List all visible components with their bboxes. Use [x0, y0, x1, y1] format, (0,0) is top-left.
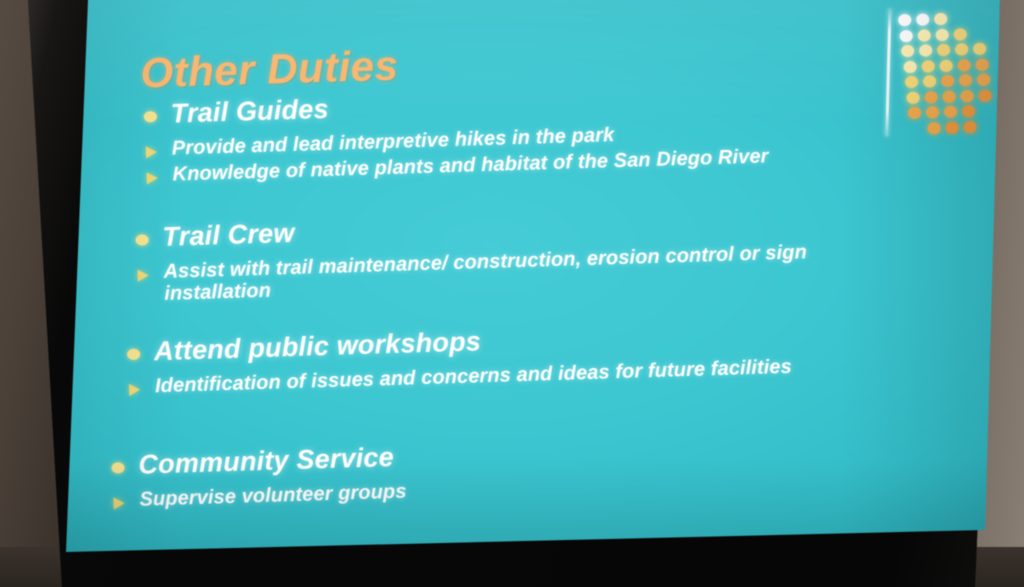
sub-bullet-arrow-icon — [146, 146, 157, 158]
matrix-dot — [939, 59, 952, 71]
sub-bullet-arrow-icon — [147, 172, 158, 184]
matrix-dot — [921, 60, 934, 72]
matrix-dot — [928, 122, 941, 134]
matrix-dot — [901, 45, 914, 57]
matrix-dot — [936, 28, 949, 40]
matrix-dot — [977, 74, 990, 86]
slide-section: Community Service Supervise volunteer gr… — [138, 430, 780, 511]
section-heading-label: Trail Guides — [170, 94, 329, 129]
decorative-dot-matrix — [898, 11, 1012, 144]
matrix-dot — [946, 121, 959, 133]
matrix-dot — [916, 13, 929, 25]
matrix-dot — [934, 13, 947, 25]
bullet-dot-icon — [127, 349, 140, 360]
matrix-dot — [900, 29, 913, 41]
matrix-dot — [898, 14, 911, 26]
matrix-dot — [962, 105, 975, 117]
matrix-dot — [954, 28, 967, 40]
matrix-dot — [919, 44, 932, 56]
section-heading-label: Attend public workshops — [154, 326, 482, 366]
matrix-dot — [918, 29, 931, 41]
sub-bullet-arrow-icon — [129, 384, 140, 396]
matrix-dot — [959, 74, 972, 86]
section-sub-item-label: Assist with trail maintenance/ construct… — [163, 241, 807, 304]
slide-content: Other Duties Trail Guides Provide and le… — [0, 0, 1024, 587]
matrix-dot — [923, 75, 936, 87]
matrix-dot — [924, 91, 937, 103]
bullet-dot-icon — [135, 234, 148, 245]
matrix-dot — [975, 58, 988, 70]
matrix-dot — [906, 91, 919, 103]
matrix-dot — [908, 107, 921, 119]
section-sub-item-label: Supervise volunteer groups — [139, 481, 407, 511]
slide-section: Attend public workshops Identification o… — [154, 315, 866, 398]
sub-bullet-arrow-icon — [113, 497, 124, 509]
section-heading-label: Community Service — [138, 442, 394, 480]
matrix-dot — [905, 76, 918, 88]
matrix-dot — [941, 75, 954, 87]
matrix-dot — [978, 89, 991, 101]
bullet-dot-icon — [111, 462, 124, 473]
section-heading-label: Trail Crew — [162, 218, 295, 252]
matrix-dot — [964, 120, 977, 132]
matrix-dot — [973, 43, 986, 55]
slide-section: Trail Crew Assist with trail maintenance… — [162, 199, 919, 305]
matrix-dot — [942, 90, 955, 102]
matrix-dot — [957, 59, 970, 71]
sub-bullet-arrow-icon — [138, 269, 149, 281]
slide-title: Other Duties — [140, 42, 399, 98]
matrix-dot — [955, 43, 968, 55]
matrix-dot — [944, 106, 957, 118]
matrix-dot — [937, 44, 950, 56]
bullet-dot-icon — [144, 111, 157, 122]
matrix-dot — [903, 60, 916, 72]
matrix-dot — [960, 90, 973, 102]
photographed-presentation-slide: Other Duties Trail Guides Provide and le… — [0, 0, 1024, 587]
matrix-dot — [926, 106, 939, 118]
